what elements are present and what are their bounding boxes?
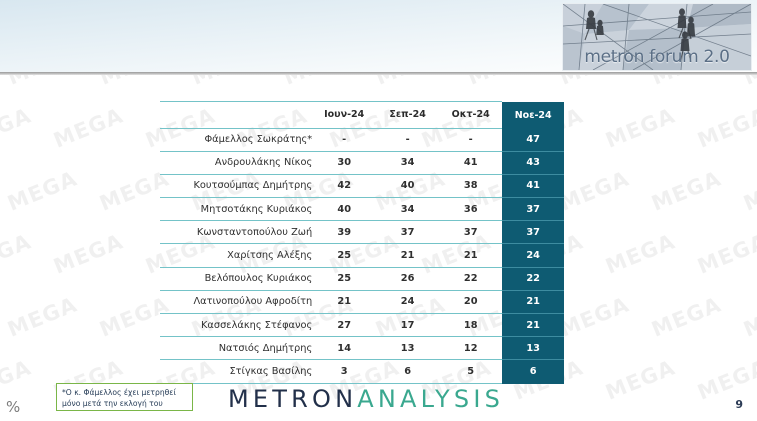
wordmark-analysis: ANALYSIS [357, 385, 504, 413]
cell-value: 27 [312, 314, 376, 337]
cell-value: 25 [312, 267, 376, 290]
row-label: Χαρίτσης Αλέξης [160, 244, 312, 267]
cell-value: 34 [376, 198, 439, 221]
cell-value-highlighted: 13 [502, 337, 564, 360]
cell-value-highlighted: 47 [502, 128, 564, 151]
cell-value: 40 [312, 198, 376, 221]
footnote-box: *Ο κ. Φάμελλος έχει μετρηθεί μόνο μετά τ… [56, 383, 193, 411]
cell-value: 36 [439, 198, 502, 221]
cell-value: 5 [439, 360, 502, 383]
footnote-line-1: *Ο κ. Φάμελλος έχει μετρηθεί [62, 387, 187, 398]
watermark-text: MEGA [556, 292, 632, 341]
header-divider [0, 72, 757, 75]
cell-value: 37 [376, 221, 439, 244]
cell-value: 21 [376, 244, 439, 267]
cell-value-highlighted: 24 [502, 244, 564, 267]
cell-value-highlighted: 43 [502, 151, 564, 174]
table-row: Κωνσταντοπούλου Ζωή39373737 [160, 221, 564, 244]
table-row: Νατσιός Δημήτρης14131213 [160, 337, 564, 360]
cell-value: 25 [312, 244, 376, 267]
watermark-text: MEGA [602, 355, 678, 404]
table-row: Μητσοτάκης Κυριάκος40343637 [160, 198, 564, 221]
table-row: Φάμελλος Σωκράτης*---47 [160, 128, 564, 151]
metron-forum-logo: metron forum 2.0 [562, 3, 752, 71]
watermark-text: MEGA [740, 292, 757, 341]
row-label: Στίγκας Βασίλης [160, 360, 312, 383]
cell-value: 13 [376, 337, 439, 360]
watermark-text: MEGA [648, 292, 724, 341]
col-header-oct24: Οκτ-24 [439, 101, 502, 128]
watermark-text: MEGA [0, 229, 35, 278]
cell-value: 42 [312, 174, 376, 197]
cell-value: 22 [439, 267, 502, 290]
metron-analysis-wordmark: METRONANALYSIS [228, 385, 504, 413]
wordmark-metron: METRON [228, 385, 357, 413]
row-label: Νατσιός Δημήτρης [160, 337, 312, 360]
watermark-text: MEGA [694, 103, 757, 152]
row-label: Κωνσταντοπούλου Ζωή [160, 221, 312, 244]
watermark-text: MEGA [602, 229, 678, 278]
watermark-text: MEGA [694, 229, 757, 278]
row-label: Βελόπουλος Κυριάκος [160, 267, 312, 290]
watermark-text: MEGA [740, 166, 757, 215]
row-label: Κασσελάκης Στέφανος [160, 314, 312, 337]
table-body: Φάμελλος Σωκράτης*---47Ανδρουλάκης Νίκος… [160, 128, 564, 383]
logo-photo-icon [563, 4, 751, 70]
slide: MEGAMEGAMEGAMEGAMEGAMEGAMEGAMEGAMEGAMEGA… [0, 0, 757, 421]
row-label: Κουτσούμπας Δημήτρης [160, 174, 312, 197]
row-label: Λατινοπούλου Αφροδίτη [160, 290, 312, 313]
cell-value: 38 [439, 174, 502, 197]
watermark-text: MEGA [0, 103, 35, 152]
cell-value-highlighted: 37 [502, 198, 564, 221]
cell-value: 40 [376, 174, 439, 197]
percent-symbol: % [6, 398, 20, 416]
col-header-name [160, 101, 312, 128]
cell-value-highlighted: 22 [502, 267, 564, 290]
cell-value-highlighted: 6 [502, 360, 564, 383]
cell-value: 21 [439, 244, 502, 267]
popularity-table: Ιουν-24 Σεπ-24 Οκτ-24 Νοε-24 Φάμελλος Σω… [160, 100, 564, 384]
cell-value-highlighted: 21 [502, 314, 564, 337]
table-row: Κουτσούμπας Δημήτρης42403841 [160, 174, 564, 197]
table-head: Ιουν-24 Σεπ-24 Οκτ-24 Νοε-24 [160, 101, 564, 128]
cell-value: 39 [312, 221, 376, 244]
watermark-text: MEGA [694, 355, 757, 404]
watermark-text: MEGA [4, 292, 80, 341]
poll-table-wrap: Ιουν-24 Σεπ-24 Οκτ-24 Νοε-24 Φάμελλος Σω… [160, 100, 564, 384]
cell-value: 37 [439, 221, 502, 244]
watermark-text: MEGA [556, 166, 632, 215]
col-header-jun24: Ιουν-24 [312, 101, 376, 128]
cell-value: - [439, 128, 502, 151]
watermark-text: MEGA [4, 166, 80, 215]
watermark-text: MEGA [50, 229, 126, 278]
watermark-text: MEGA [602, 103, 678, 152]
cell-value: 14 [312, 337, 376, 360]
row-label: Ανδρουλάκης Νίκος [160, 151, 312, 174]
table-row: Ανδρουλάκης Νίκος30344143 [160, 151, 564, 174]
cell-value: 3 [312, 360, 376, 383]
cell-value: 26 [376, 267, 439, 290]
cell-value: 12 [439, 337, 502, 360]
cell-value: 21 [312, 290, 376, 313]
table-row: Βελόπουλος Κυριάκος25262222 [160, 267, 564, 290]
cell-value-highlighted: 41 [502, 174, 564, 197]
table-header-row: Ιουν-24 Σεπ-24 Οκτ-24 Νοε-24 [160, 101, 564, 128]
cell-value: 30 [312, 151, 376, 174]
page-number: 9 [735, 398, 743, 411]
table-row: Λατινοπούλου Αφροδίτη21242021 [160, 290, 564, 313]
watermark-text: MEGA [50, 103, 126, 152]
cell-value: 41 [439, 151, 502, 174]
row-label: Μητσοτάκης Κυριάκος [160, 198, 312, 221]
cell-value: 34 [376, 151, 439, 174]
watermark-text: MEGA [648, 166, 724, 215]
cell-value: - [376, 128, 439, 151]
cell-value: - [312, 128, 376, 151]
cell-value: 6 [376, 360, 439, 383]
footnote-line-2: μόνο μετά την εκλογή του [62, 398, 187, 409]
cell-value: 24 [376, 290, 439, 313]
cell-value: 18 [439, 314, 502, 337]
row-label: Φάμελλος Σωκράτης* [160, 128, 312, 151]
col-header-sep24: Σεπ-24 [376, 101, 439, 128]
table-row: Χαρίτσης Αλέξης25212124 [160, 244, 564, 267]
table-row: Κασσελάκης Στέφανος27171821 [160, 314, 564, 337]
cell-value-highlighted: 21 [502, 290, 564, 313]
table-row: Στίγκας Βασίλης3656 [160, 360, 564, 383]
col-header-nov24: Νοε-24 [502, 101, 564, 128]
cell-value-highlighted: 37 [502, 221, 564, 244]
cell-value: 17 [376, 314, 439, 337]
cell-value: 20 [439, 290, 502, 313]
